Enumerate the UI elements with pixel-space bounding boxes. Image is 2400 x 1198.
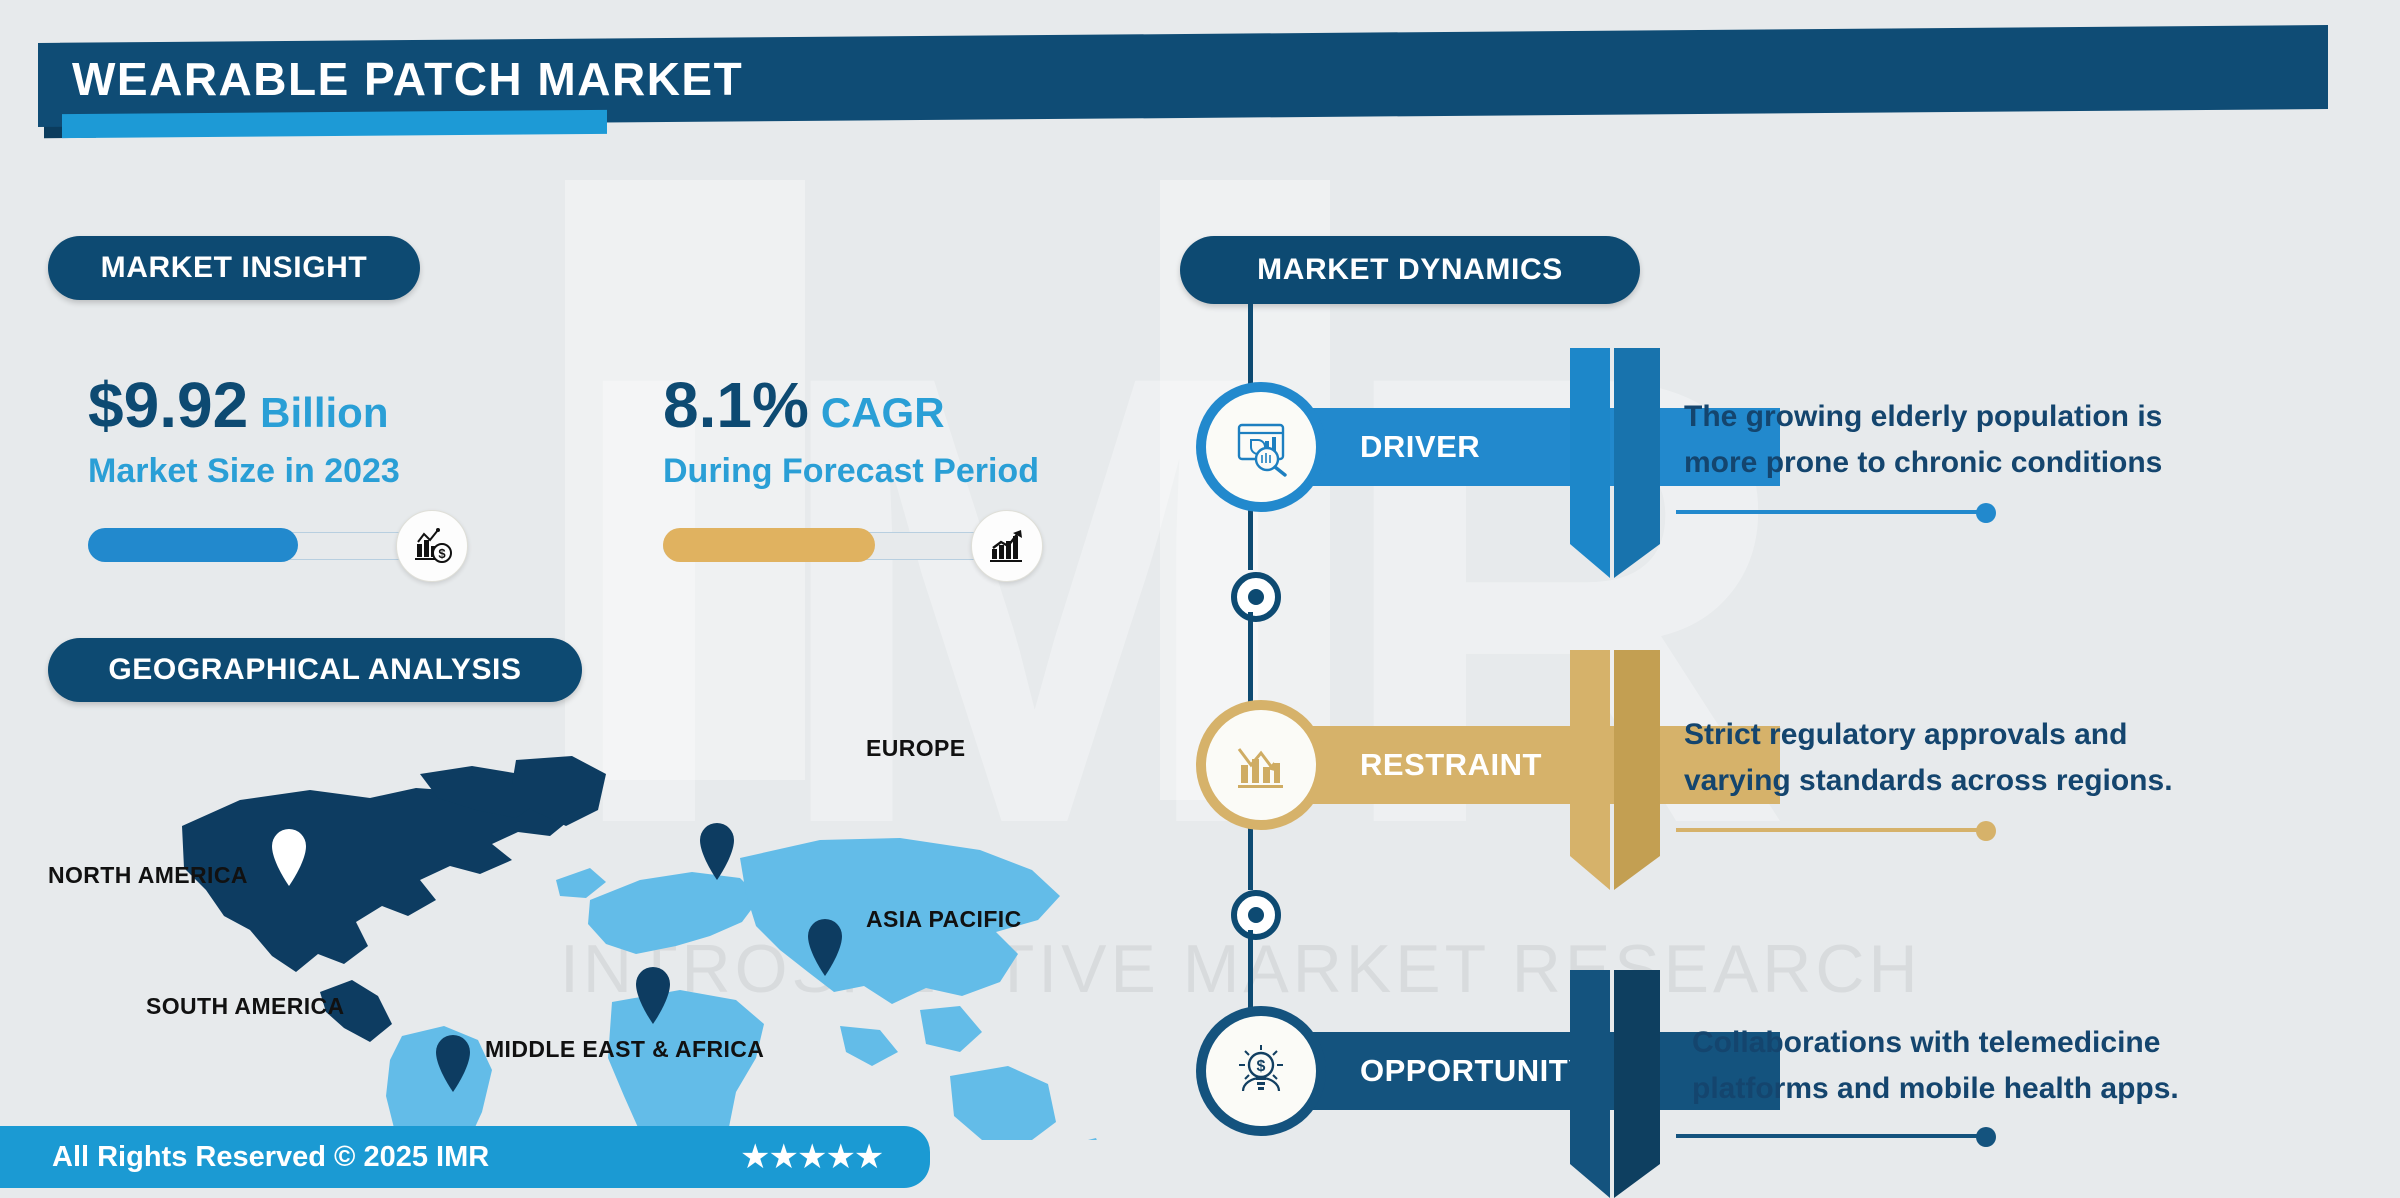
timeline-dot-2 [1231,890,1281,940]
timeline-dot-1 [1231,572,1281,622]
page-title: WEARABLE PATCH MARKET [72,48,743,110]
driver-text: The growing elderly population is more p… [1684,394,2162,485]
svg-text:$: $ [1257,1058,1266,1075]
map-label-middle-east-africa: MIDDLE EAST & AFRICA [485,1036,764,1063]
restraint-text: Strict regulatory approvals and varying … [1684,712,2173,803]
driver-label: DRIVER [1360,429,1480,465]
market-size-progress: $ [88,528,438,562]
geographical-analysis-pill-label: GEOGRAPHICAL ANALYSIS [108,653,521,687]
opportunity-text-line-1: Collaborations with telemedicine [1692,1020,2179,1066]
restraint-ribbon [1570,650,1660,895]
restraint-text-line-1: Strict regulatory approvals and [1684,712,2173,758]
market-insight-pill: MARKET INSIGHT [48,236,420,300]
world-map-svg [120,740,1190,1140]
opportunity-ribbon [1570,970,1660,1198]
header-underbar [62,110,607,138]
map-label-europe: EUROPE [866,735,966,762]
driver-text-line-1: The growing elderly population is [1684,394,2162,440]
restraint-underline [1676,828,1986,832]
map-label-asia-pacific: ASIA PACIFIC [866,906,1022,933]
metric-cagr: 8.1%CAGR During Forecast Period [663,368,1039,491]
metric-caption: During Forecast Period [663,452,1039,491]
geographical-analysis-pill: GEOGRAPHICAL ANALYSIS [48,638,582,702]
metric-caption: Market Size in 2023 [88,452,400,491]
metric-unit: CAGR [821,389,945,437]
restraint-text-line-2: varying standards across regions. [1684,758,2173,804]
restraint-underline-dot [1976,821,1996,841]
footer-copyright: All Rights Reserved © 2025 IMR [52,1126,489,1188]
progress-fill [88,528,298,562]
region-europe [556,868,760,954]
cagr-progress [663,528,1013,562]
map-label-south-america: SOUTH AMERICA [146,993,345,1020]
growth-arrow-chart-icon [971,510,1043,582]
opportunity-text: Collaborations with telemedicine platfor… [1692,1020,2179,1111]
restraint-label: RESTRAINT [1360,747,1542,783]
bar-chart-dollar-icon: $ [396,510,468,582]
analytics-dashboard-search-icon [1206,392,1316,502]
opportunity-text-line-2: platforms and mobile health apps. [1692,1066,2179,1112]
region-asia [740,838,1060,1066]
map-label-north-america: NORTH AMERICA [48,862,248,889]
driver-underline-dot [1976,503,1996,523]
declining-bar-chart-icon [1206,710,1316,820]
metric-market-size: $9.92Billion Market Size in 2023 [88,368,400,491]
opportunity-label: OPPORTUNITY [1360,1053,1589,1089]
progress-fill [663,528,875,562]
lightbulb-dollar-icon: $ [1206,1016,1316,1126]
driver-underline [1676,510,1986,514]
world-map [120,740,1190,1140]
opportunity-underline [1676,1134,1986,1138]
region-middle-east-africa [608,990,764,1140]
market-insight-pill-label: MARKET INSIGHT [101,251,368,285]
market-dynamics-pill-label: MARKET DYNAMICS [1257,253,1563,287]
footer-bar: All Rights Reserved © 2025 IMR ★★★★★ [0,1126,930,1188]
metric-unit: Billion [260,389,388,437]
opportunity-underline-dot [1976,1127,1996,1147]
market-dynamics-pill: MARKET DYNAMICS [1180,236,1640,304]
map-pin-europe [700,823,734,880]
metric-value: 8.1% [663,368,809,442]
metric-value: $9.92 [88,368,248,442]
svg-text:$: $ [438,546,446,561]
driver-text-line-2: more prone to chronic conditions [1684,440,2162,486]
infographic-canvas: IMR INTROSPECTIVE MARKET RESEARCH WEARAB… [0,0,2400,1198]
footer-rating-stars: ★★★★★ [740,1126,882,1188]
region-australia [950,1066,1104,1140]
driver-ribbon [1570,348,1660,583]
